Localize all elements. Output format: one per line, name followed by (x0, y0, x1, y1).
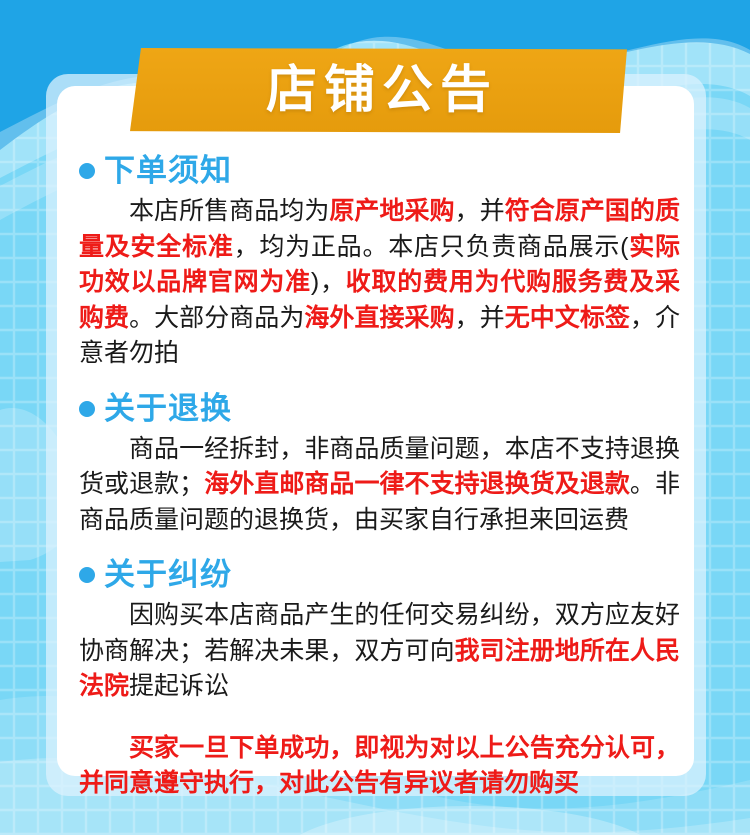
title-banner: 店铺公告 (130, 48, 627, 133)
final-note: 买家一旦下单成功，即视为对以上公告充分认可，并同意遵守执行，对此公告有异议者请勿… (57, 731, 694, 802)
text-run-highlight: 原产地采购 (329, 197, 454, 225)
text-run: 提起诉讼 (129, 672, 229, 700)
text-run: )， (311, 268, 346, 296)
section-heading: 关于纠纷 (79, 558, 680, 592)
section-title: 下单须知 (104, 154, 232, 188)
bullet-dot-icon (79, 567, 95, 583)
announcement-card: 下单须知 本店所售商品均为原产地采购，并符合原产国的质量及安全标准，均为正品。本… (57, 86, 694, 776)
section-paragraph: 本店所售商品均为原产地采购，并符合原产国的质量及安全标准，均为正品。本店只负责商… (79, 194, 680, 372)
text-run-highlight: 海外直接采购 (304, 304, 454, 332)
section-title: 关于退换 (104, 392, 232, 426)
section-order-notice: 下单须知 本店所售商品均为原产地采购，并符合原产国的质量及安全标准，均为正品。本… (57, 154, 694, 372)
section-heading: 下单须知 (79, 154, 680, 188)
section-paragraph: 因购买本店商品产生的任何交易纠纷，双方应友好协商解决；若解决未果，双方可向我司注… (79, 598, 680, 705)
section-returns: 关于退换 商品一经拆封，非商品质量问题，本店不支持退换货或退款；海外直邮商品一律… (57, 392, 694, 539)
section-title: 关于纠纷 (104, 558, 232, 592)
text-run: ，并 (455, 197, 505, 225)
text-run: 。大部分商品为 (129, 304, 304, 332)
store-announcement-poster: 下单须知 本店所售商品均为原产地采购，并符合原产国的质量及安全标准，均为正品。本… (0, 0, 750, 835)
final-note-text: 买家一旦下单成功，即视为对以上公告充分认可，并同意遵守执行，对此公告有异议者请勿… (79, 731, 680, 802)
bullet-dot-icon (79, 401, 95, 417)
section-paragraph: 商品一经拆封，非商品质量问题，本店不支持退换货或退款；海外直邮商品一律不支持退换… (79, 432, 680, 539)
section-heading: 关于退换 (79, 392, 680, 426)
text-run: ，并 (455, 304, 505, 332)
bullet-dot-icon (79, 163, 95, 179)
text-run-highlight: 海外直邮商品一律不支持退换货及退款 (204, 470, 630, 498)
section-disputes: 关于纠纷 因购买本店商品产生的任何交易纠纷，双方应友好协商解决；若解决未果，双方… (57, 558, 694, 705)
text-run: ，均为正品。本店只负责商品展示( (234, 233, 629, 261)
card-content: 下单须知 本店所售商品均为原产地采购，并符合原产国的质量及安全标准，均为正品。本… (57, 86, 694, 802)
text-run: 本店所售商品均为 (129, 197, 329, 225)
text-run-highlight: 无中文标签 (505, 304, 630, 332)
banner-title: 店铺公告 (130, 48, 627, 133)
